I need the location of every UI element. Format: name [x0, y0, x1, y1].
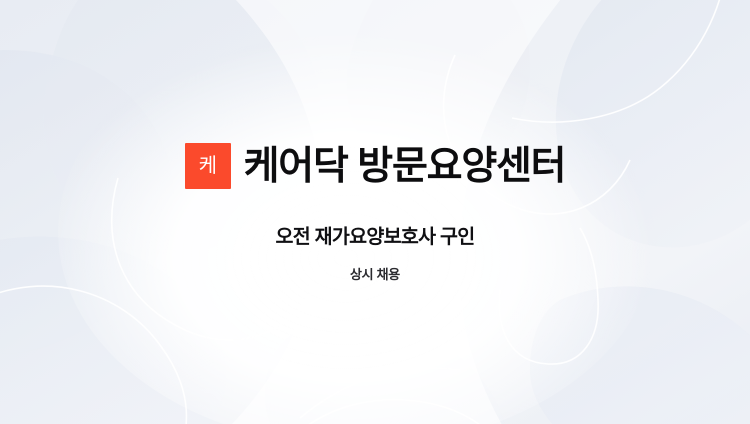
- hiring-status-caption: 상시 채용: [350, 248, 400, 281]
- banner-content: 케 케어닥 방문요양센터 오전 재가요양보호사 구인 상시 채용: [0, 0, 750, 424]
- job-position-subtitle: 오전 재가요양보호사 구인: [275, 192, 474, 248]
- logo-badge: 케: [185, 143, 231, 189]
- recruitment-banner: 케 케어닥 방문요양센터 오전 재가요양보호사 구인 상시 채용: [0, 0, 750, 424]
- logo-badge-character: 케: [199, 156, 217, 176]
- organization-title: 케어닥 방문요양센터: [244, 147, 566, 186]
- title-row: 케 케어닥 방문요양센터: [185, 140, 566, 192]
